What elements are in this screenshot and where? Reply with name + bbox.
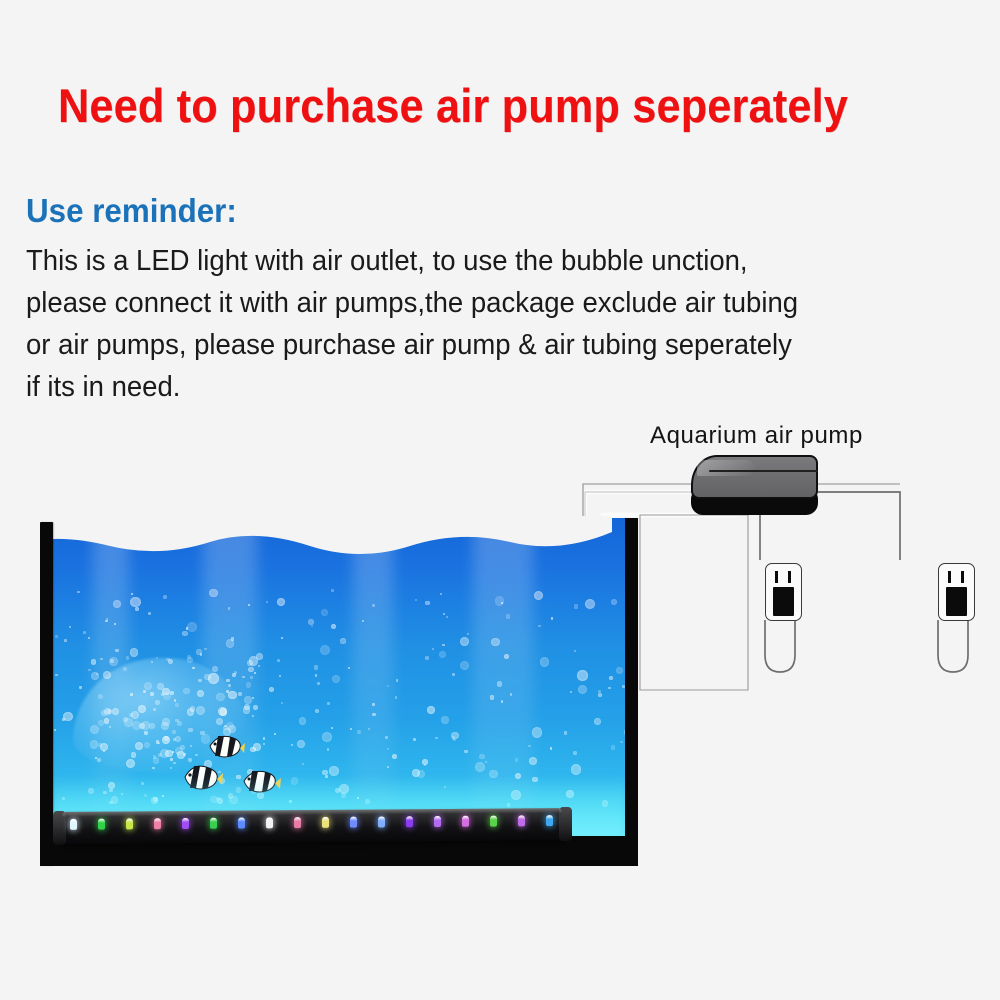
bubble xyxy=(491,638,499,646)
bubble xyxy=(387,748,389,750)
bubble-plume xyxy=(157,683,164,690)
outlet-right-slot-2 xyxy=(961,571,964,583)
bubble-plume xyxy=(104,718,110,724)
bubble-plume xyxy=(109,657,118,666)
bubble-plume xyxy=(98,720,104,726)
bubble xyxy=(385,736,388,739)
bubble-plume xyxy=(153,757,160,764)
bubble-plume xyxy=(173,762,176,765)
bubble-plume xyxy=(139,723,145,729)
bubble-plume xyxy=(198,679,201,682)
bubble-plume xyxy=(183,688,190,695)
bubble xyxy=(442,644,445,647)
product-info-page: Need to purchase air pump seperately Use… xyxy=(0,0,1000,1000)
bubble xyxy=(130,597,141,608)
bubble xyxy=(64,639,67,642)
bubble xyxy=(453,739,455,741)
bubble xyxy=(331,624,336,629)
bubble-plume xyxy=(250,676,253,679)
bubble xyxy=(357,730,361,734)
reminder-line-3: or air pumps, please purchase air pump &… xyxy=(26,324,960,366)
bubble xyxy=(611,599,617,605)
bubble xyxy=(571,764,581,774)
bubble xyxy=(479,754,485,760)
bubble-plume xyxy=(156,740,160,744)
bubble xyxy=(317,682,320,685)
bubble-plume xyxy=(244,704,250,710)
bubble-plume xyxy=(187,657,193,663)
bubble xyxy=(130,693,132,695)
led-bar-end-cap-right xyxy=(559,807,572,841)
led-13 xyxy=(406,816,413,827)
water-surface-wave xyxy=(40,516,612,576)
reminder-line-1: This is a LED light with air outlet, to … xyxy=(26,240,960,282)
bubble xyxy=(550,747,553,750)
bubble xyxy=(327,748,329,750)
bubble xyxy=(515,758,519,762)
bubble xyxy=(315,709,319,713)
bubble xyxy=(152,767,154,769)
bubble xyxy=(228,684,231,687)
bubble-plume xyxy=(250,747,255,752)
bubble-plume xyxy=(196,649,202,655)
bubble xyxy=(331,589,334,592)
bubble-plume xyxy=(130,648,139,657)
bubble xyxy=(274,733,276,735)
bubble xyxy=(302,763,304,765)
bubble xyxy=(135,607,139,611)
bubble xyxy=(204,648,207,651)
outlet-left-plug xyxy=(773,587,794,616)
bubble-plume xyxy=(188,728,193,733)
bubble xyxy=(228,607,231,610)
bubble xyxy=(540,657,550,667)
power-cord-to-right-outlet xyxy=(818,492,900,560)
bubble xyxy=(460,637,469,646)
bubble xyxy=(297,740,305,748)
aquarium-air-pump-label: Aquarium air pump xyxy=(650,422,863,450)
bubble-plume xyxy=(161,693,163,695)
outlet-right xyxy=(938,563,975,621)
bubble xyxy=(88,637,90,639)
led-8 xyxy=(266,817,273,828)
outlet-right-plug xyxy=(946,587,967,616)
bubble xyxy=(281,637,283,639)
bubble xyxy=(329,766,339,776)
bubble xyxy=(131,752,137,758)
bubble xyxy=(574,650,576,652)
bubble xyxy=(446,616,448,618)
bubble-plume xyxy=(126,656,129,659)
bubble xyxy=(464,750,467,753)
led-light-bar xyxy=(62,808,562,844)
aquarium-air-pump-device xyxy=(691,455,818,515)
bubble xyxy=(594,718,601,725)
bubble-plume xyxy=(204,674,210,680)
bubble xyxy=(55,635,57,637)
bubble xyxy=(372,713,375,716)
bubble xyxy=(577,670,588,681)
bubble xyxy=(504,654,509,659)
led-11 xyxy=(350,817,357,828)
outlet-right-slot-1 xyxy=(948,571,951,583)
bubble-plume xyxy=(138,705,146,713)
bubble-plume xyxy=(144,731,148,735)
led-10 xyxy=(322,817,329,828)
bubble xyxy=(574,604,578,608)
led-bar-end-cap-left xyxy=(53,811,66,845)
bubble xyxy=(620,741,623,744)
bubble xyxy=(79,686,82,689)
led-6 xyxy=(210,818,217,829)
bubble xyxy=(441,716,449,724)
bubble xyxy=(279,675,281,677)
fish-2 xyxy=(205,731,245,759)
bubble-plume xyxy=(190,706,195,711)
bubble xyxy=(432,648,434,650)
bubble xyxy=(322,770,328,776)
reminder-line-4: if its in need. xyxy=(26,366,960,408)
outlet-left xyxy=(765,563,802,621)
bubble-plume xyxy=(175,736,181,742)
bubble-plume xyxy=(98,694,103,699)
bubble xyxy=(528,745,531,748)
led-2 xyxy=(98,819,105,830)
bubble xyxy=(532,727,543,738)
bubble xyxy=(175,703,178,706)
tank-frame-right xyxy=(625,518,638,866)
bubble xyxy=(529,757,537,765)
bubble-plume xyxy=(258,665,260,667)
bubble xyxy=(413,738,416,741)
bubble-plume xyxy=(228,691,237,700)
led-14 xyxy=(434,816,441,827)
bubble xyxy=(170,758,172,760)
bubble xyxy=(63,712,72,721)
pump-highlight xyxy=(697,460,755,476)
led-17 xyxy=(518,815,525,826)
bubble xyxy=(372,703,375,706)
bubble xyxy=(254,672,256,674)
bubble xyxy=(435,737,437,739)
bubble xyxy=(148,612,151,615)
bubble-plume xyxy=(226,679,229,682)
bubble xyxy=(277,659,280,662)
guide-line-upper-left xyxy=(583,484,691,520)
tank-frame-left xyxy=(40,522,53,866)
bubble-plume xyxy=(216,693,225,702)
led-15 xyxy=(462,816,469,827)
pump-body xyxy=(691,455,818,499)
led-9 xyxy=(294,817,301,828)
page-headline: Need to purchase air pump seperately xyxy=(58,78,886,133)
outlet-left-slot-2 xyxy=(788,571,791,583)
bubble-plume xyxy=(104,708,111,715)
led-5 xyxy=(182,818,189,829)
bubble xyxy=(501,700,504,703)
bubble xyxy=(322,732,332,742)
bubble xyxy=(209,589,218,598)
outlet-left-slot-1 xyxy=(775,571,778,583)
bubble xyxy=(277,598,286,607)
bubble xyxy=(174,699,176,701)
bubble xyxy=(311,625,313,627)
led-4 xyxy=(154,818,161,829)
bubble xyxy=(395,696,397,698)
bubble xyxy=(495,596,504,605)
bubble-plume xyxy=(165,750,172,757)
bubble xyxy=(452,673,455,676)
use-reminder-body: This is a LED light with air outlet, to … xyxy=(26,240,960,408)
led-3 xyxy=(126,818,133,829)
bubble xyxy=(538,625,541,628)
led-12 xyxy=(378,816,385,827)
guide-rect-lower xyxy=(640,515,748,690)
bubble-plume xyxy=(91,659,97,665)
bubble xyxy=(320,645,330,655)
bubble xyxy=(616,667,623,674)
led-16 xyxy=(490,816,497,827)
bubble xyxy=(163,595,167,599)
bubble xyxy=(425,601,430,606)
bubble-plume xyxy=(91,672,100,681)
led-1 xyxy=(70,819,77,830)
reminder-line-2: please connect it with air pumps,the pac… xyxy=(26,282,960,324)
bubble xyxy=(578,685,587,694)
bubble-plume xyxy=(162,718,170,726)
led-18 xyxy=(546,815,553,826)
bubble xyxy=(196,706,205,715)
led-7 xyxy=(238,818,245,829)
bubble xyxy=(608,687,611,690)
bubble xyxy=(396,679,398,681)
bubble xyxy=(422,759,428,765)
bubble-plume xyxy=(216,718,223,725)
bubble xyxy=(485,761,487,763)
bubble xyxy=(340,638,345,643)
use-reminder-title: Use reminder: xyxy=(26,192,237,230)
bubble xyxy=(551,617,553,619)
bubble xyxy=(564,731,568,735)
bubble-plume xyxy=(153,708,156,711)
bubble xyxy=(460,661,469,670)
